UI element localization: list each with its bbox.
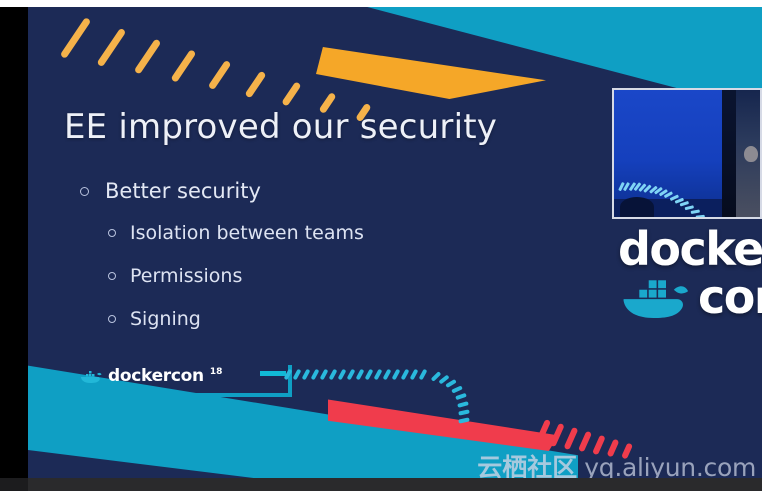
cyan-dash-start-decoration (260, 371, 286, 376)
bullet-level1-better-security: Better security (80, 179, 261, 203)
letterbox-bottom (0, 478, 762, 491)
bullet-ring-icon (108, 272, 116, 280)
letterbox-top (0, 0, 762, 7)
letterbox-bottom-left (0, 478, 28, 491)
docker-whale-icon (80, 369, 102, 383)
brand-word-con: con (698, 276, 762, 320)
overlay-right-column: docker con (612, 88, 762, 348)
orange-dash-decoration (72, 7, 402, 109)
dockercon-footer-logo: dockercon 18 (80, 366, 222, 386)
presenter-head (744, 146, 758, 162)
brand-row-con: con (618, 274, 762, 320)
bullet-text: Better security (105, 179, 261, 203)
dockercon-wordmark: dockercon (108, 366, 204, 386)
bullet-ring-icon (108, 315, 116, 323)
bullet-text: Signing (130, 308, 201, 330)
docker-whale-icon (618, 274, 692, 318)
bullet-level2-permissions: Permissions (108, 265, 242, 287)
screenshot-root: EE improved our security Better security… (0, 0, 762, 491)
letterbox-left (0, 7, 28, 478)
brand-word-docker: docker (618, 228, 762, 272)
cyan-step-line-lower-decoration (112, 389, 146, 407)
dockercon-year: 18 (210, 368, 223, 377)
bullet-text: Isolation between teams (130, 222, 364, 244)
bullet-level2-isolation: Isolation between teams (108, 222, 364, 244)
presenter-video-feed[interactable] (612, 88, 762, 219)
bullet-level2-signing: Signing (108, 308, 201, 330)
bullet-text: Permissions (130, 265, 242, 287)
dockercon-brand-overlay: docker con (618, 228, 762, 320)
stage-shadow (620, 197, 654, 217)
bullet-ring-icon (80, 187, 89, 196)
slide-title: EE improved our security (64, 107, 497, 147)
bullet-ring-icon (108, 229, 116, 237)
cyan-dashed-curve-decoration (286, 365, 526, 425)
